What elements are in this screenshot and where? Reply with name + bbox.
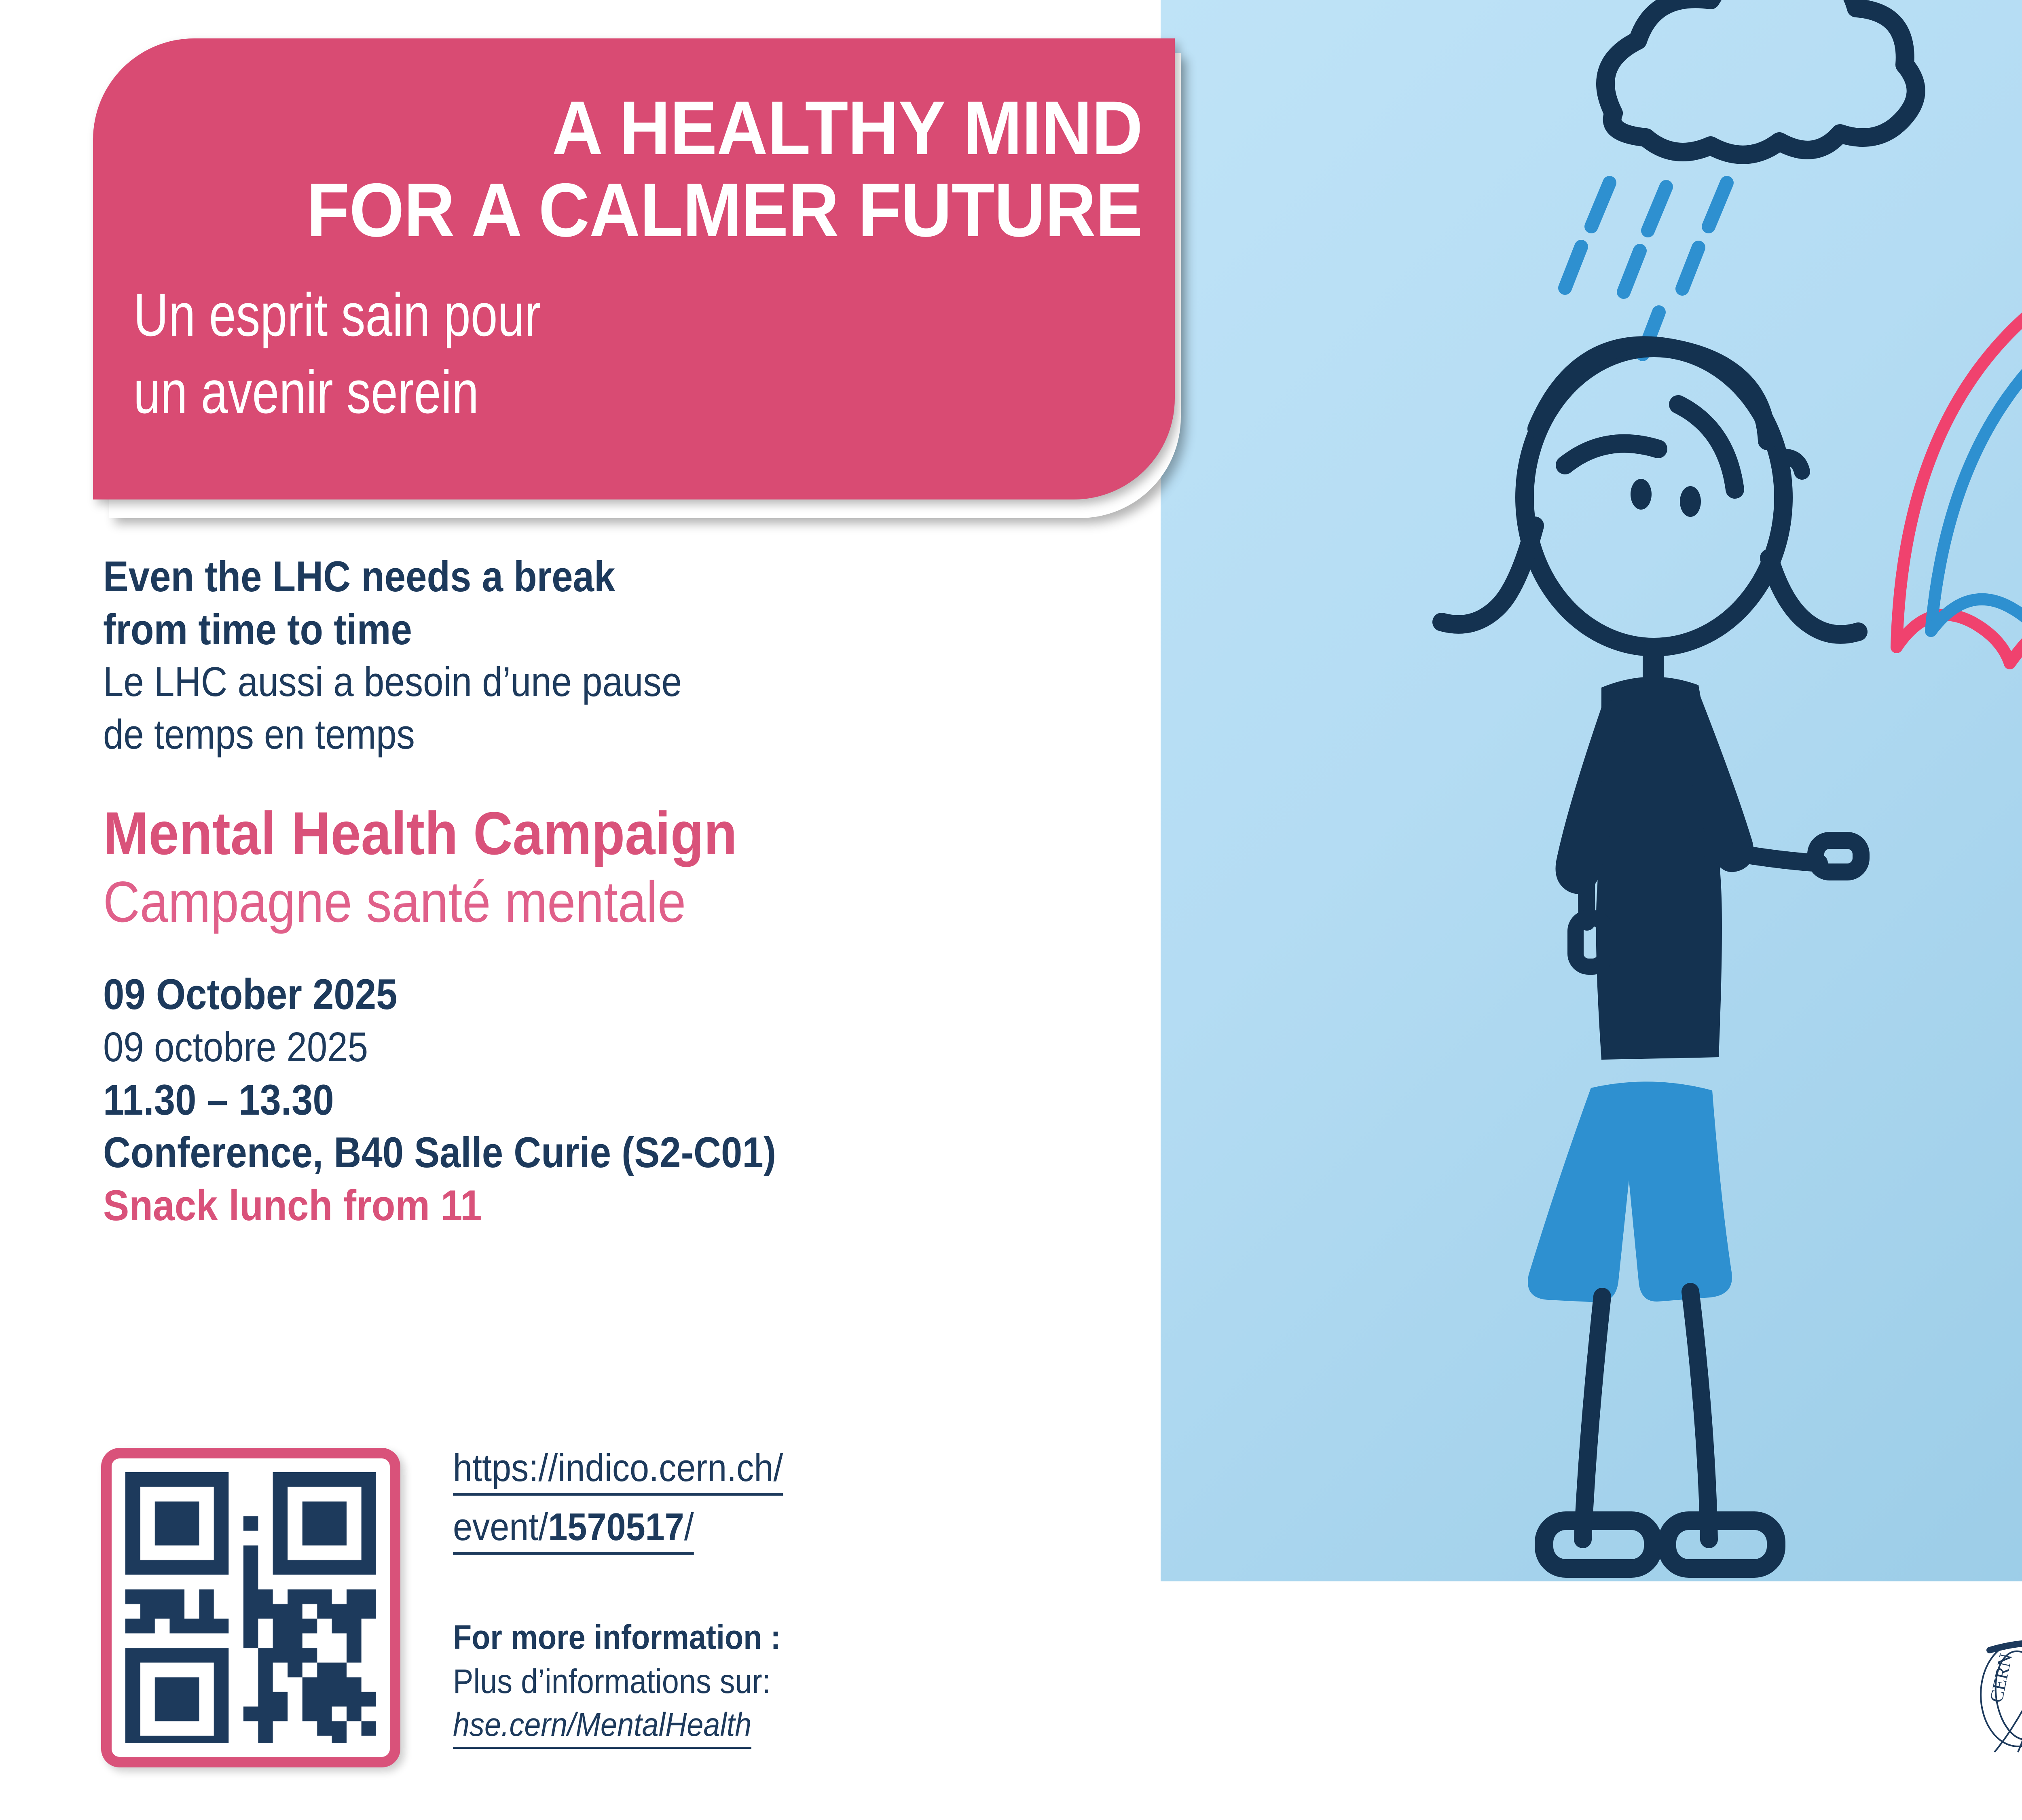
event-url-suffix: / [684,1505,694,1549]
event-time: 11.30 – 13.30 [103,1073,1014,1126]
event-location: Conference, B40 Salle Curie (S2-C01) [103,1126,1014,1179]
intro-fr-line-1: Le LHC aussi a besoin d’une pause [103,656,1014,708]
intro-en-line-2: from time to time [103,603,1014,656]
intro-fr-line-2: de temps en temps [103,708,1014,761]
qr-code-image[interactable] [125,1472,376,1743]
event-text-column: Even the LHC needs a break from time to … [103,550,1138,1232]
campaign-title-fr: Campagne santé mentale [103,868,1014,937]
more-info-label-fr: Plus d’informations sur: [453,1659,1072,1704]
banner-card: A HEALTHY MIND FOR A CALMER FUTURE Un es… [93,38,1175,499]
link-column: https://indico.cern.ch/ event/1570517/ F… [453,1444,1140,1749]
campaign-title-en: Mental Health Campaign [103,798,1035,868]
subheadline-line-2: un avenir serein [133,355,941,429]
rain-drops-icon [1565,183,1727,354]
more-info-label-en: For more information : [453,1615,1072,1659]
rain-cloud-icon [1605,0,1916,155]
poster-root: .ink{fill:none;stroke:#143250;stroke-lin… [0,0,2022,1820]
event-date-en: 09 October 2025 [103,968,1014,1021]
umbrella-icon [1897,213,2022,1075]
cern-logo-icon: CERN [1973,1634,2022,1755]
event-url-line-2[interactable]: event/1570517/ [453,1503,694,1555]
headline-line-1: A HEALTHY MIND [204,87,1142,169]
event-url-prefix: event/ [453,1505,548,1549]
illustration-svg: .ink{fill:none;stroke:#143250;stroke-lin… [1161,0,2022,1581]
headline-banner: A HEALTHY MIND FOR A CALMER FUTURE Un es… [93,38,1197,520]
event-snack-lunch: Snack lunch from 11 [103,1179,1035,1232]
figure-left [1442,345,1861,1568]
footer-logos: CERN Medical Service Service médical HSE… [1973,1610,2022,1780]
intro-en-line-1: Even the LHC needs a break [103,550,1014,603]
qr-and-links: https://indico.cern.ch/ event/1570517/ F… [101,1448,1153,1780]
more-info-url[interactable]: hse.cern/MentalHealth [453,1704,751,1749]
event-url-id: 1570517 [548,1505,684,1549]
qr-code-frame[interactable] [101,1448,400,1767]
illustration-panel: .ink{fill:none;stroke:#143250;stroke-lin… [1161,0,2022,1581]
event-date-fr: 09 octobre 2025 [103,1021,1014,1073]
subheadline-line-1: Un esprit sain pour [133,278,941,352]
event-url-line-1[interactable]: https://indico.cern.ch/ [453,1444,783,1496]
headline-line-2: FOR A CALMER FUTURE [204,169,1142,251]
